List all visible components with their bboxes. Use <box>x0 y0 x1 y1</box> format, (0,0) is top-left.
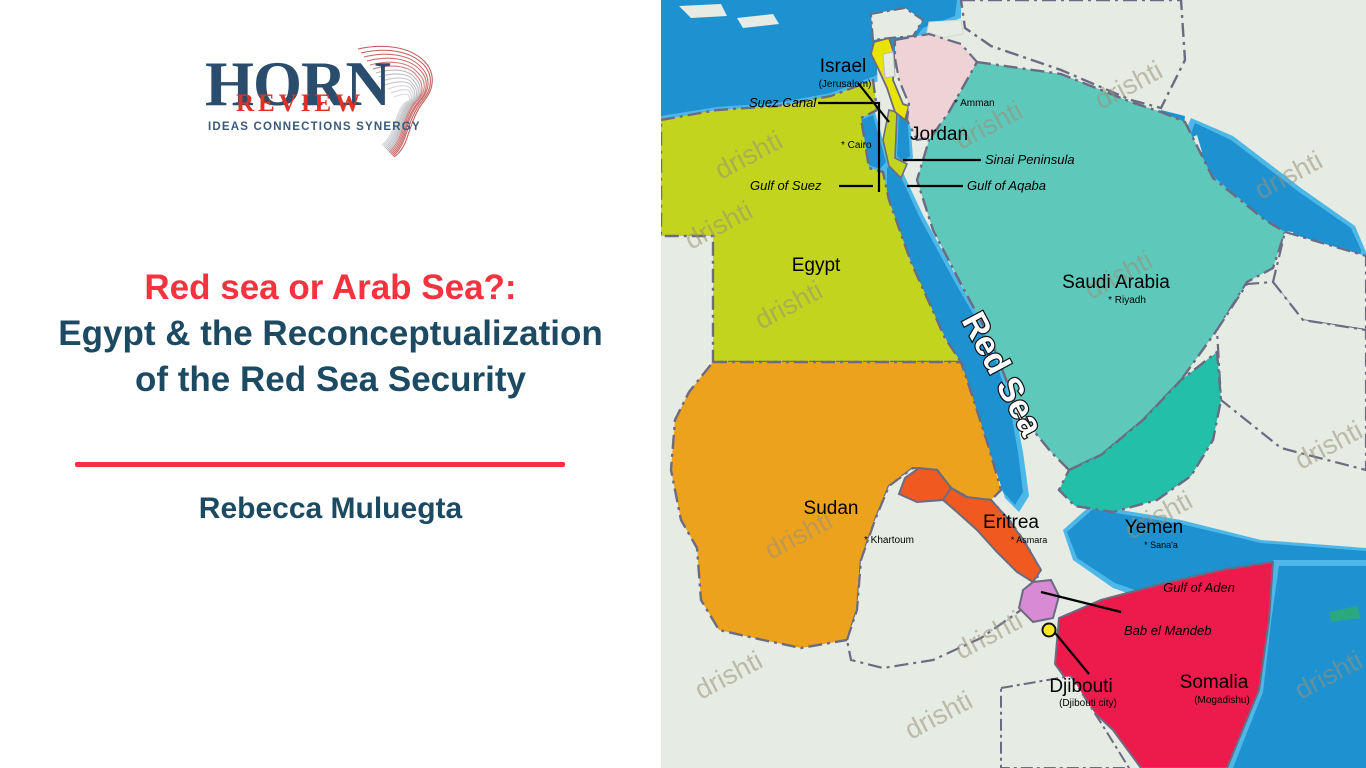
label-country-saudi-arabia: Saudi Arabia <box>1062 272 1170 293</box>
label-capital-jerusalem: (Jerusalem) <box>819 79 872 90</box>
label-country-jordan: Jordan <box>910 124 968 145</box>
label-capital-riyadh: * Riyadh <box>1108 295 1146 306</box>
label-sinai-peninsula: Sinai Peninsula <box>985 152 1075 167</box>
djibouti-city-dot <box>1043 624 1056 637</box>
title-line-2: Egypt & the Reconceptualization <box>0 311 661 357</box>
page-title: Red sea or Arab Sea?: Egypt & the Reconc… <box>0 265 661 403</box>
slide-root: HORN REVIEW IDEAS CONNECTIONS SYNERGY Re… <box>0 0 1366 768</box>
label-capital-cairo: * Cairo <box>841 140 872 151</box>
label-country-sudan: Sudan <box>804 498 859 519</box>
label-capital-amman: * Amman <box>954 98 995 109</box>
label-country-egypt: Egypt <box>792 255 841 276</box>
author-name: Rebecca Muluegta <box>0 492 661 526</box>
label-capital-khartoum: * Khartoum <box>864 535 914 546</box>
label-bab-el-mandeb: Bab el Mandeb <box>1124 623 1211 638</box>
label-capital-sanaa: * Sana'a <box>1144 540 1178 550</box>
label-capital-mogadishu: (Mogadishu) <box>1194 695 1250 706</box>
label-gulf-of-aden: Gulf of Aden <box>1163 580 1235 595</box>
label-gulf-of-suez: Gulf of Suez <box>750 178 822 193</box>
label-country-eritrea: Eritrea <box>983 512 1039 533</box>
label-gulf-of-aqaba: Gulf of Aqaba <box>967 178 1046 193</box>
label-country-israel: Israel <box>820 56 866 77</box>
logo-tagline: IDEAS CONNECTIONS SYNERGY <box>208 121 421 133</box>
label-capital-djibouti-city: (Djibouti city) <box>1059 698 1117 709</box>
region-map: drishti drishti drishti drishti drishti … <box>661 0 1366 768</box>
label-capital-asmara: * Asmara <box>1011 535 1048 545</box>
label-country-djibouti: Djibouti <box>1049 676 1112 697</box>
label-country-somalia: Somalia <box>1180 672 1249 693</box>
map-canvas: drishti drishti drishti drishti drishti … <box>661 0 1366 768</box>
left-content-panel: HORN REVIEW IDEAS CONNECTIONS SYNERGY Re… <box>0 0 661 768</box>
horn-review-logo[interactable]: HORN REVIEW IDEAS CONNECTIONS SYNERGY <box>200 45 470 155</box>
label-suez-canal: Suez Canal <box>749 95 817 110</box>
label-country-yemen: Yemen <box>1125 517 1183 538</box>
title-divider <box>75 462 565 467</box>
logo-overlay-word: REVIEW <box>236 91 364 116</box>
title-line-1: Red sea or Arab Sea?: <box>0 265 661 311</box>
title-line-3: of the Red Sea Security <box>0 357 661 403</box>
